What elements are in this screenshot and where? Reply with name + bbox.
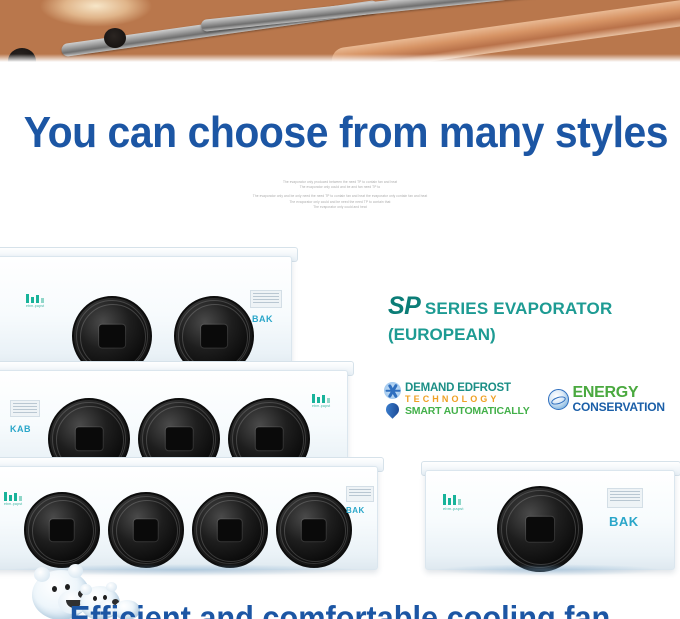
spec-plate (607, 488, 643, 508)
evaporator-unit-bottom-left[interactable]: ebm-papst BAK (0, 466, 376, 568)
copper-coil-banner-image (0, 0, 680, 62)
fine-print-line: The evaporator only could and be and fan… (0, 185, 680, 190)
spec-plate (250, 290, 282, 308)
bottom-tagline: Efficient and comfortable cooling fan (24, 600, 656, 619)
brand-mark: BAK (346, 506, 365, 515)
ebm-papst-logo: ebm-papst (443, 496, 464, 511)
fan-grille (24, 492, 100, 568)
banner-fade (0, 54, 680, 62)
feature-badges: DEMAND EDFROST TECHNOLOGY SMART AUTOMATI… (384, 382, 665, 417)
page-title: You can choose from many styles (24, 108, 656, 158)
badge-line-3: SMART AUTOMATICALLY (405, 405, 530, 417)
water-drop-icon (386, 401, 399, 417)
fan-grille (276, 492, 352, 568)
spec-plate (346, 486, 374, 502)
unit-shadow (435, 564, 663, 576)
series-code: SP (388, 292, 420, 320)
brand-mark: BAK (609, 514, 639, 529)
brand-mark: BAK (252, 314, 273, 324)
product-series-title: SP SERIES EVAPORATOR (EUROPEAN) (388, 292, 612, 345)
marketing-page: You can choose from many styles The evap… (0, 0, 680, 619)
snowflake-icon (384, 382, 401, 399)
fan-grille (497, 486, 583, 572)
evaporator-unit-right[interactable]: ebm-papst BAK (425, 470, 673, 568)
globe-icon (548, 389, 569, 410)
fan-grille (108, 492, 184, 568)
series-name: SERIES EVAPORATOR (425, 299, 613, 318)
badge-line-1: ENERGY (573, 385, 665, 401)
ebm-papst-logo: ebm-papst (312, 394, 330, 408)
evaporator-unit-top[interactable]: ebm-papst BAK (0, 256, 290, 368)
badge-line-2: CONSERVATION (573, 401, 665, 414)
ebm-papst-logo: ebm-papst (4, 492, 22, 506)
series-region: (EUROPEAN) (388, 325, 612, 345)
badge-energy-conservation: ENERGY CONSERVATION (548, 385, 665, 414)
ebm-papst-logo: ebm-papst (26, 294, 44, 308)
brand-mark: KAB (10, 424, 31, 434)
badge-line-2: TECHNOLOGY (405, 394, 530, 405)
fine-print-line: The evaporator only could and heat (0, 205, 680, 210)
fine-print: The evaporator only produced between the… (0, 180, 680, 214)
fan-grille (192, 492, 268, 568)
coil-hole (104, 28, 126, 48)
badge-line-1: DEMAND EDFROST (405, 382, 530, 394)
spec-plate (10, 400, 40, 417)
badge-demand-defrost: DEMAND EDFROST TECHNOLOGY SMART AUTOMATI… (384, 382, 530, 417)
